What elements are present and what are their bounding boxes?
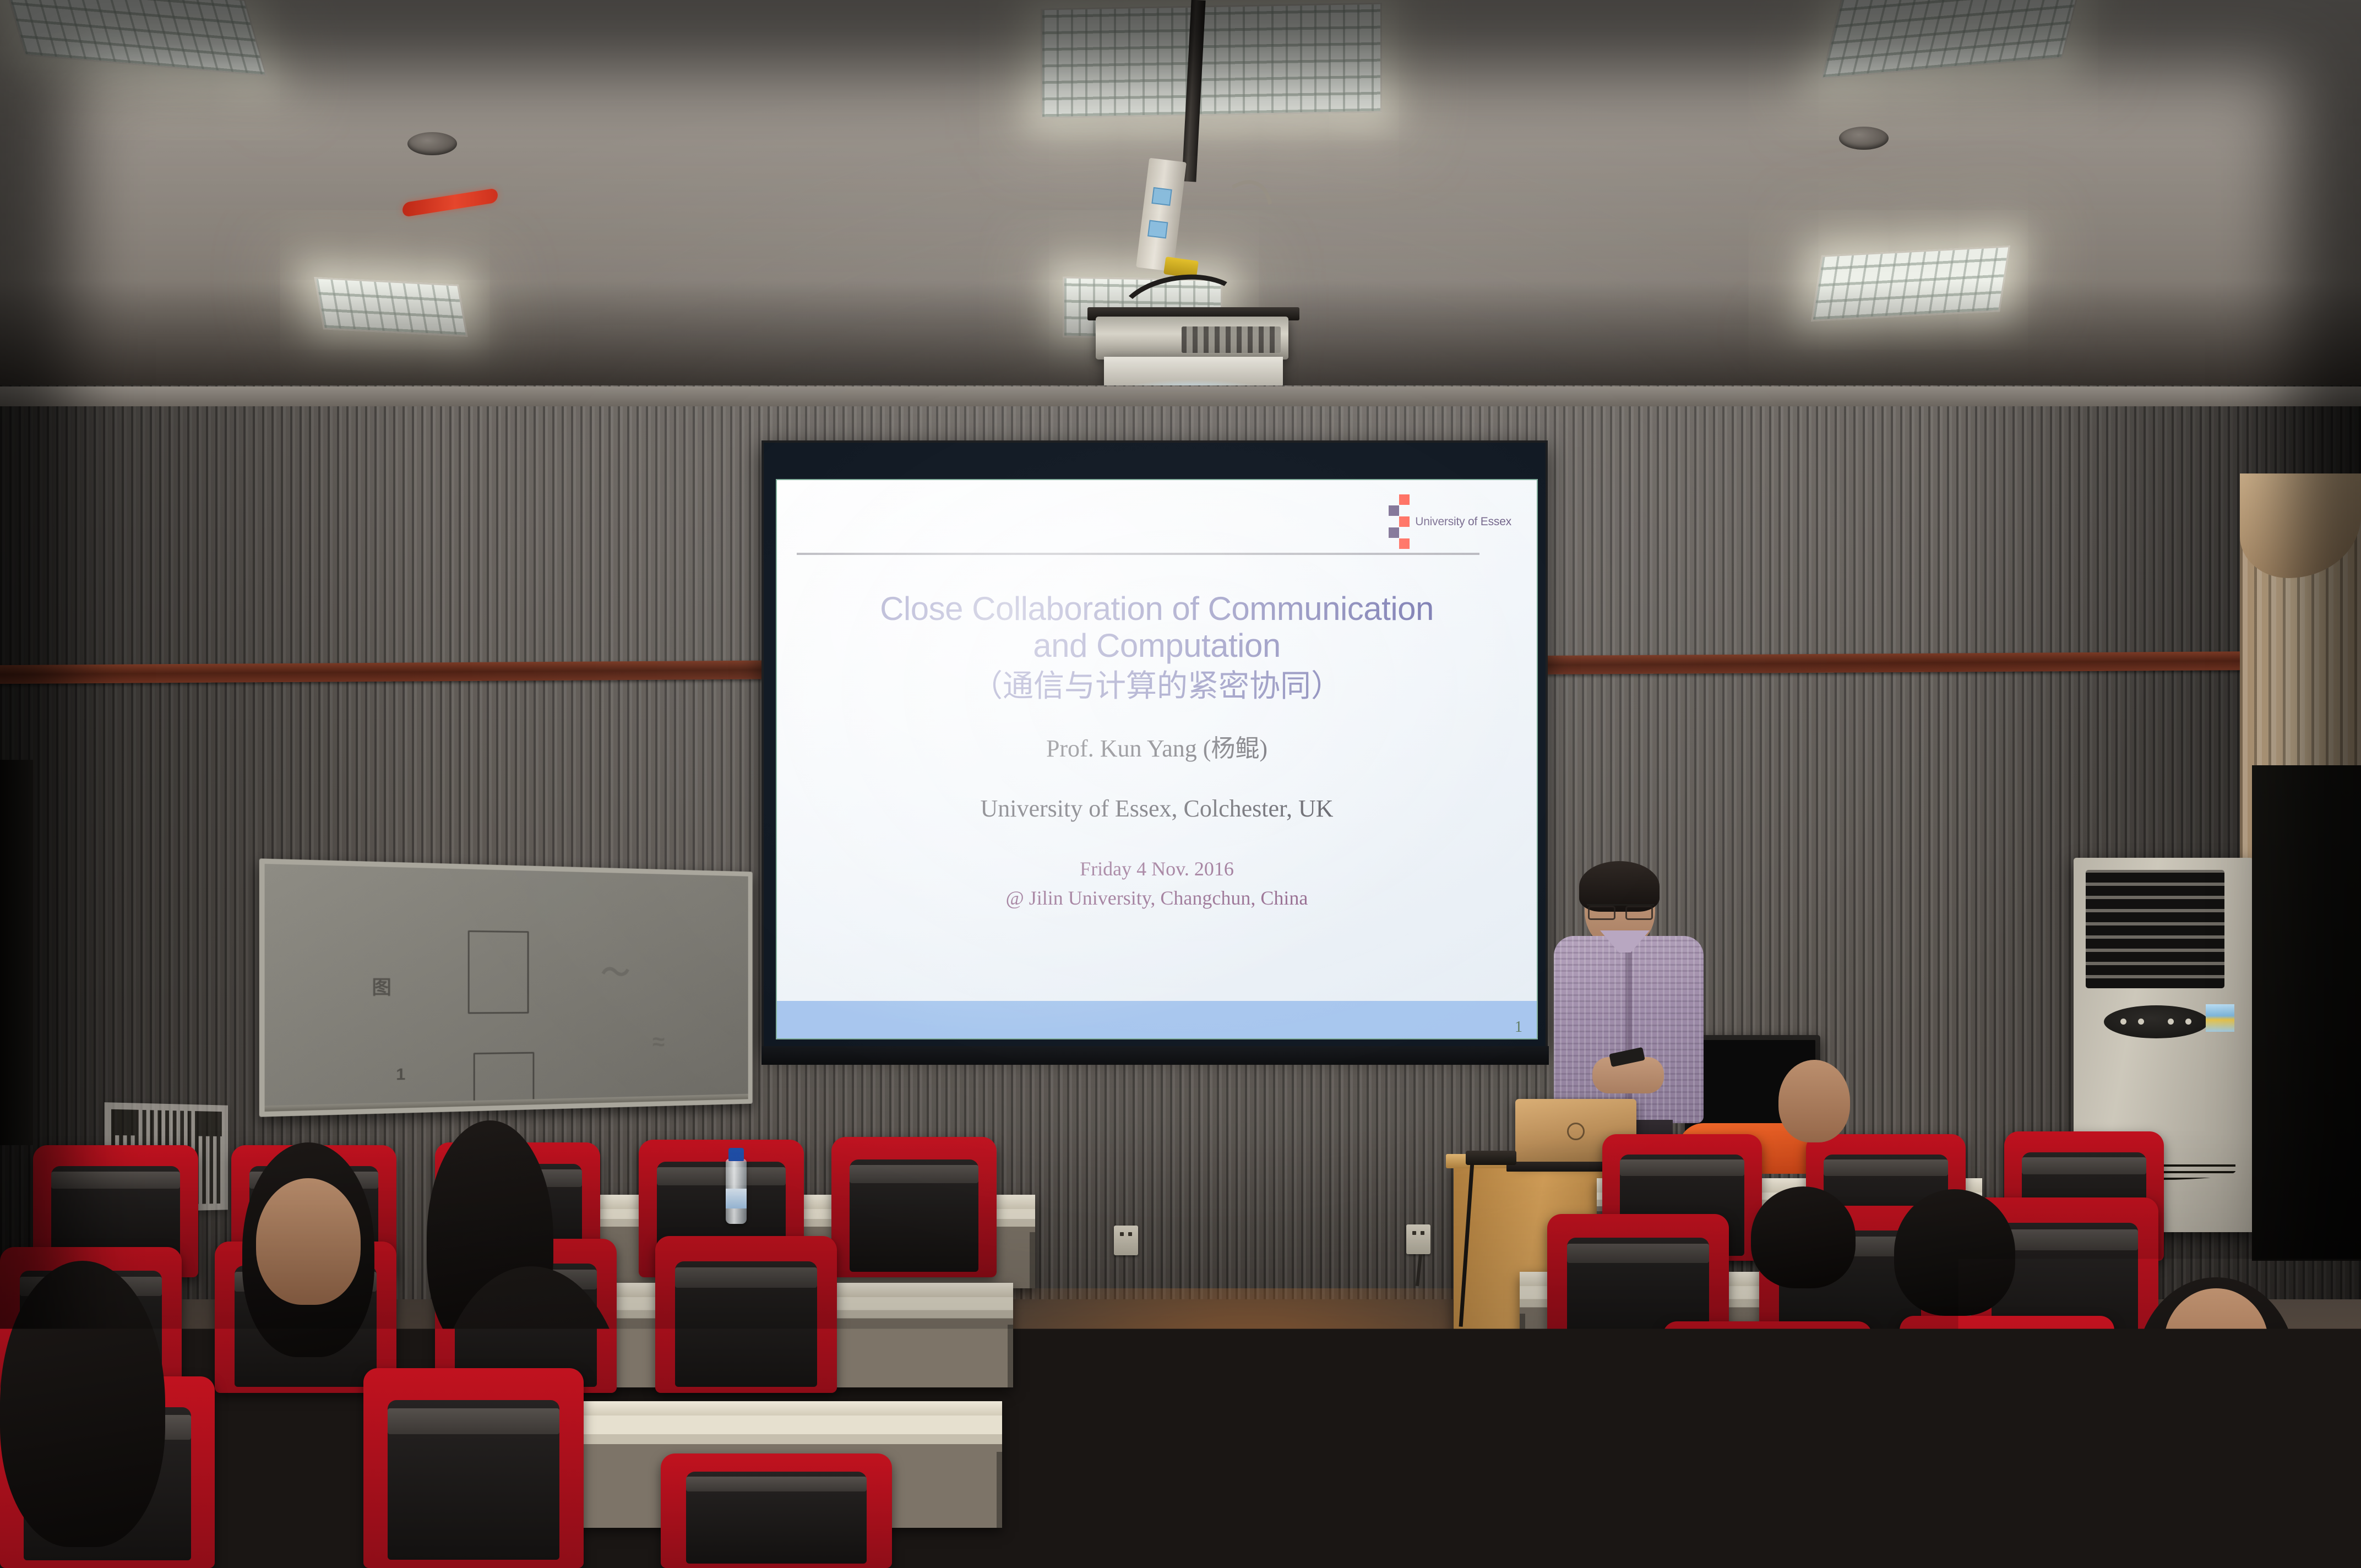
whiteboard-label: 图 [372, 972, 391, 1000]
wall-outlet [1114, 1226, 1138, 1255]
screen-lower-frame [761, 1046, 1549, 1065]
slide-title-line-2: and Computation [804, 627, 1509, 664]
wall-cornice [0, 386, 2361, 406]
chair[interactable] [655, 1236, 837, 1393]
audience-head [1751, 1186, 1856, 1288]
slide-author: Prof. Kun Yang (杨鲲) [804, 732, 1509, 766]
chair-stripe [2022, 1157, 2146, 1174]
whiteboard-diagram-box [468, 930, 529, 1014]
projector-mount-label [1147, 220, 1168, 238]
chair[interactable] [1900, 1316, 2114, 1503]
audience-head [1894, 1189, 2015, 1316]
ac-display-panel [2104, 1005, 2208, 1038]
water-bottle[interactable] [726, 1159, 747, 1224]
slide-footer-band [777, 1001, 1537, 1038]
chair[interactable] [661, 1453, 892, 1568]
chair-stripe [850, 1165, 978, 1183]
logo-text: University of Essex [1415, 515, 1511, 529]
ac-brand-label [2206, 1004, 2234, 1032]
audience-head [2164, 1288, 2268, 1398]
audience-head [256, 1178, 361, 1305]
presenter-shirt [1554, 936, 1704, 1123]
slide-divider-rule [797, 553, 1479, 555]
presenter-glasses-icon [1587, 904, 1654, 915]
whiteboard-diagram-box [474, 1052, 535, 1117]
bottle-cap [728, 1148, 744, 1161]
chair[interactable] [1663, 1321, 1872, 1503]
whiteboard-number: 1 [396, 1065, 405, 1084]
slide-content: Close Collaboration of Communication and… [777, 590, 1537, 912]
chair-stripe [1620, 1159, 1744, 1176]
chair[interactable] [831, 1137, 997, 1277]
dell-logo-icon [1567, 1123, 1585, 1140]
chair-stripe [1567, 1244, 1709, 1263]
whiteboard: 图 1 〜 ≈ [259, 858, 753, 1117]
slide-page-number: 1 [1515, 1019, 1522, 1036]
chair-stripe [1923, 1353, 2091, 1378]
slide-title-chinese: （通信与计算的紧密协同） [804, 666, 1509, 706]
slide-title-line-1: Close Collaboration of Communication [804, 590, 1509, 627]
wall-outlet [1406, 1224, 1430, 1254]
whiteboard-scribble: 〜 [601, 948, 630, 992]
right-wall-dark-panel [2252, 765, 2361, 1261]
slide-venue: @ Jilin University, Changchun, China [804, 884, 1509, 913]
university-logo: University of Essex [1389, 494, 1511, 549]
projection-screen: University of Essex Close Collaboration … [761, 440, 1548, 1048]
lecture-hall-scene: University of Essex Close Collaboration … [0, 0, 2361, 1568]
ac-louver-grille [2086, 870, 2224, 988]
chair-stripe [675, 1267, 817, 1288]
projector [1096, 317, 1288, 360]
chair-stripe [51, 1172, 180, 1189]
chair-stripe [657, 1167, 786, 1185]
presentation-slide: University of Essex Close Collaboration … [776, 479, 1538, 1039]
audience-head [435, 1266, 628, 1568]
chair-stripe [1824, 1159, 1948, 1176]
smoke-detector-icon [407, 132, 457, 155]
smoke-detector-icon [1839, 127, 1889, 150]
left-wall-dark-panel [0, 760, 33, 1145]
whiteboard-scribble: ≈ [652, 1029, 665, 1056]
projector-ports [1182, 326, 1281, 353]
bottle-label [726, 1189, 747, 1208]
audience-head [1778, 1060, 1850, 1142]
chair-stripe [686, 1477, 867, 1491]
lectern-equipment [1466, 1151, 1516, 1165]
slide-date: Friday 4 Nov. 2016 [804, 854, 1509, 884]
audience-head [0, 1261, 165, 1547]
projector-mount-label [1151, 187, 1172, 206]
essex-logo-mark-icon [1389, 494, 1410, 549]
ceiling-light-panel [1041, 3, 1382, 119]
slide-affiliation: University of Essex, Colchester, UK [804, 792, 1509, 826]
chair-stripe [1686, 1358, 1849, 1381]
